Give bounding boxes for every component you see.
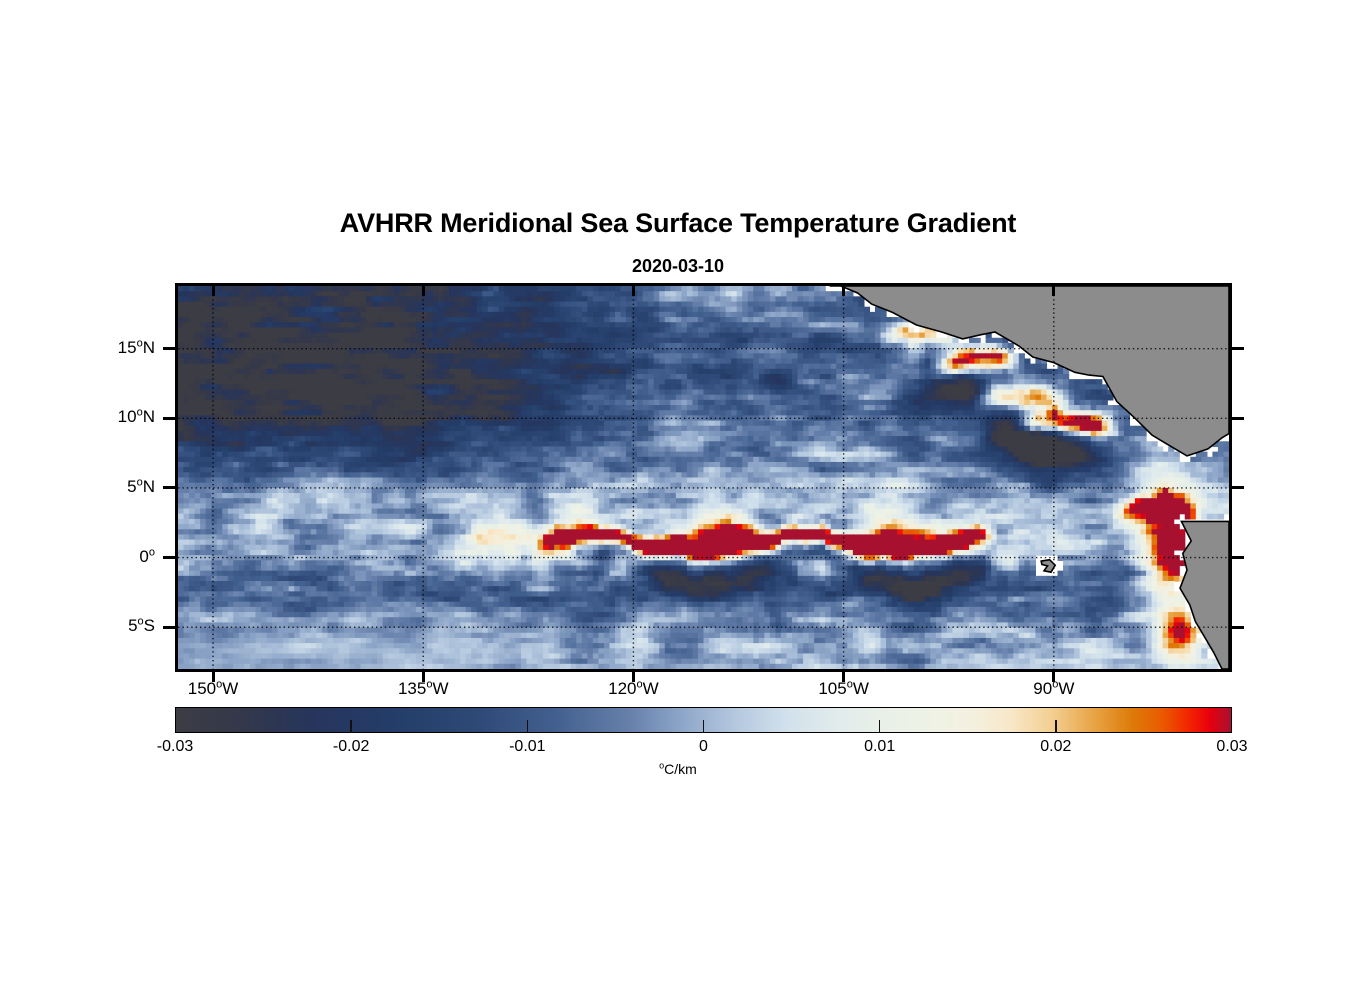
colorbar-unit-label: oC/km xyxy=(0,761,1356,777)
colorbar-tick-mark xyxy=(879,720,881,733)
figure-subtitle: 2020-03-10 xyxy=(0,256,1356,277)
colorbar-tick-label: -0.01 xyxy=(467,738,587,756)
x-axis-tick-label: 120oW xyxy=(563,679,703,699)
colorbar-tick-mark xyxy=(1055,720,1057,733)
colorbar-tick-mark xyxy=(527,720,529,733)
colorbar-tick-label: -0.02 xyxy=(291,738,411,756)
x-tick-mark-top xyxy=(632,283,635,296)
y-axis-tick-label: 5oS xyxy=(35,616,155,636)
colorbar-tick-label: 0 xyxy=(644,738,764,756)
y-tick-mark xyxy=(163,417,176,420)
colorbar-tick-label: 0.01 xyxy=(820,738,940,756)
map-axes[interactable] xyxy=(175,283,1232,672)
x-tick-mark-top xyxy=(422,283,425,296)
y-tick-mark-right xyxy=(1231,556,1244,559)
colorbar-tick-label: -0.03 xyxy=(115,738,235,756)
y-tick-mark xyxy=(163,556,176,559)
colorbar-tick-mark xyxy=(350,720,352,733)
x-axis-tick-label: 90oW xyxy=(984,679,1124,699)
x-axis-tick-label: 135oW xyxy=(353,679,493,699)
y-tick-mark-right xyxy=(1231,347,1244,350)
page-title: AVHRR Meridional Sea Surface Temperature… xyxy=(0,208,1356,239)
x-axis-tick-label: 105oW xyxy=(774,679,914,699)
figure-canvas: AVHRR Meridional Sea Surface Temperature… xyxy=(0,0,1356,1000)
x-tick-mark-top xyxy=(842,283,845,296)
y-axis-tick-label: 10oN xyxy=(35,407,155,427)
sst-gradient-heatmap xyxy=(178,286,1229,669)
colorbar-tick-label: 0.03 xyxy=(1172,738,1292,756)
y-axis-tick-label: 0o xyxy=(35,547,155,567)
y-tick-mark-right xyxy=(1231,626,1244,629)
x-tick-mark-top xyxy=(212,283,215,296)
y-tick-mark xyxy=(163,486,176,489)
colorbar-tick-mark xyxy=(703,720,705,733)
colorbar-tick-label: 0.02 xyxy=(996,738,1116,756)
y-tick-mark-right xyxy=(1231,486,1244,489)
y-tick-mark xyxy=(163,347,176,350)
y-tick-mark-right xyxy=(1231,417,1244,420)
y-axis-tick-label: 5oN xyxy=(35,477,155,497)
y-axis-tick-label: 15oN xyxy=(35,338,155,358)
x-tick-mark-top xyxy=(1052,283,1055,296)
y-tick-mark xyxy=(163,626,176,629)
x-axis-tick-label: 150oW xyxy=(143,679,283,699)
